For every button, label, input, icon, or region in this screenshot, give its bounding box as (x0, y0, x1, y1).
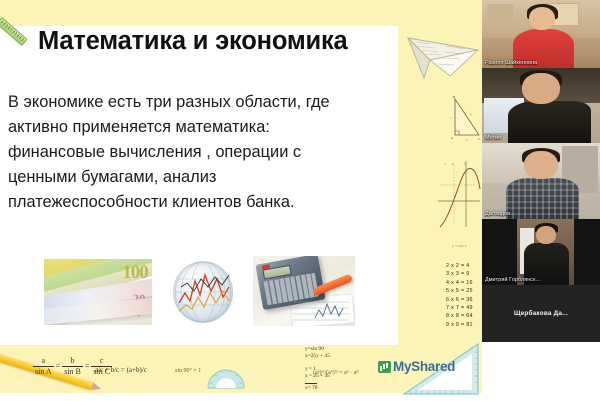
function-graph-label: y = cos x (452, 243, 467, 248)
system-line: x=25y + 45 (305, 353, 330, 360)
banknote-denomination: 20 (133, 291, 146, 307)
video-tile-participant-5[interactable]: Щербакова Да... (482, 285, 600, 342)
screenshot-root: B A C c a b -101 y = cos x 2 x 2 = 4 3 x… (0, 0, 600, 401)
function-graph: -101 (436, 155, 482, 230)
power-rule-formula: (aⁿ)ᵐ/(aⁿ)ᵐ = aⁿ · aᵐ (313, 370, 359, 376)
formula-part: sin A (33, 367, 54, 376)
participant-name: Далхадов (485, 211, 510, 217)
right-triangle-diagram: B A C c a b (448, 95, 482, 143)
system-line: y=sin 90 (305, 346, 330, 353)
panel-empty-area (482, 342, 600, 401)
svg-text:b: b (466, 138, 468, 142)
slide-body-text: В экономике есть три разных области, где… (8, 90, 408, 215)
multiplication-table: 2 x 2 = 4 3 x 3 = 9 4 x 4 = 16 5 x 5 = 2… (446, 262, 473, 329)
body-line: финансовые вычисления , операции с (8, 140, 408, 165)
myshared-watermark: MyShared (378, 359, 455, 374)
svg-text:-1: -1 (444, 162, 447, 166)
participant-name: Щербакова Да... (482, 285, 600, 342)
video-feed (482, 68, 600, 143)
formula-part: = (85, 361, 90, 370)
formula-part: = (56, 361, 61, 370)
sin90-formula: sin 90° = 1 (175, 368, 201, 374)
svg-text:B: B (453, 95, 455, 99)
photo-calculator-notes (253, 256, 355, 326)
video-tile-participant-3[interactable]: Далхадов (482, 143, 600, 219)
svg-text:c: c (450, 116, 452, 120)
mult-row: 6 x 6 = 36 (446, 296, 473, 304)
svg-text:A: A (451, 136, 454, 140)
video-feed (482, 219, 600, 285)
participant-name: Метин (485, 135, 501, 141)
photo-globe-stock-chart (167, 257, 239, 327)
svg-text:0: 0 (452, 162, 454, 166)
protractor-icon (205, 352, 247, 392)
formula-part: a (33, 357, 54, 367)
body-line: В экономике есть три разных области, где (8, 90, 408, 115)
participant-name: Дмитрий Горблянск... (485, 277, 540, 283)
body-line: активно применяется математика: (8, 115, 408, 140)
video-feed (482, 143, 600, 219)
mult-row: 3 x 3 = 9 (446, 270, 473, 278)
video-tile-participant-1[interactable]: Разиля Шайкеновна (482, 0, 600, 68)
body-line: платежеспособности клиентов банка. (8, 190, 408, 215)
video-tile-participant-2[interactable]: Метин (482, 68, 600, 143)
paper-airplane-icon (400, 30, 482, 86)
chart-icon (378, 361, 391, 373)
formula-part: b (62, 357, 83, 367)
slide-title: Математика и экономика (38, 27, 348, 56)
participant-name: Разиля Шайкеновна (485, 60, 537, 66)
svg-text:a: a (470, 112, 472, 116)
video-feed (482, 0, 600, 68)
myshared-label: MyShared (393, 359, 455, 374)
mult-row: 7 x 7 = 49 (446, 304, 473, 312)
fraction-sum-formula: a/c + b/c = (a+b)/c (95, 366, 147, 374)
mult-row: 4 x 4 = 16 (446, 279, 473, 287)
presentation-slide[interactable]: B A C c a b -101 y = cos x 2 x 2 = 4 3 x… (0, 0, 482, 401)
banknote-denomination: 100 (122, 262, 148, 284)
mult-row: 8 x 8 = 64 (446, 312, 473, 320)
body-line: ценными бумагами, анализ (8, 165, 408, 190)
mult-row: 9 x 9 = 81 (446, 321, 473, 329)
video-tile-participant-4[interactable]: Дмитрий Горблянск... (482, 219, 600, 285)
video-participants-panel[interactable]: Разиля Шайкеновна Метин Далхадов Дмитрий… (482, 0, 600, 401)
mult-row: 5 x 5 = 25 (446, 287, 473, 295)
photo-euro-banknotes: 100 20 10 (44, 259, 152, 325)
system-result: x= 70 (305, 383, 317, 392)
banknote-denomination: 10 (130, 307, 141, 319)
svg-text:C: C (478, 137, 480, 141)
mult-row: 2 x 2 = 4 (446, 262, 473, 270)
formula-part: sin B (62, 367, 83, 376)
